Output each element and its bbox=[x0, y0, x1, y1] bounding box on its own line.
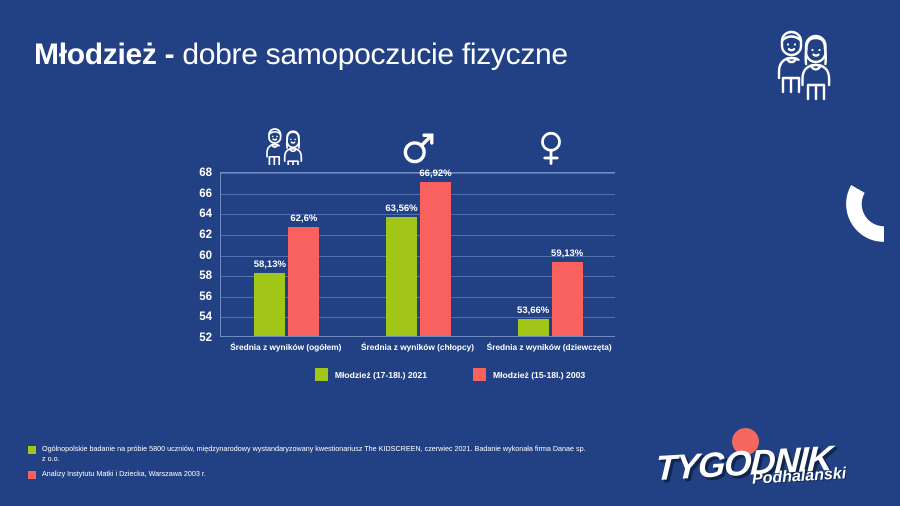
bar-value-label: 62,6% bbox=[290, 213, 317, 224]
bar[interactable]: 63,56% bbox=[386, 217, 417, 336]
bar-value-label: 63,56% bbox=[385, 203, 417, 214]
bar-fill bbox=[386, 217, 417, 336]
legend-color-swatch bbox=[315, 368, 328, 381]
bar-value-label: 66,92% bbox=[419, 168, 451, 179]
page-title-light: dobre samopoczucie fizyczne bbox=[174, 38, 567, 71]
footnote-color-swatch bbox=[28, 471, 36, 479]
couple-icon bbox=[265, 125, 307, 170]
bar-fill bbox=[518, 319, 549, 336]
footnote-color-swatch bbox=[28, 446, 36, 454]
y-axis-tick-label: 54 bbox=[199, 311, 212, 323]
legend-item[interactable]: Młodzież (15-18l.) 2003 bbox=[473, 368, 585, 381]
bar[interactable]: 58,13% bbox=[254, 273, 285, 336]
legend-color-swatch bbox=[473, 368, 486, 381]
footnote-list: Ogólnopolskie badanie na próbie 5800 ucz… bbox=[28, 444, 588, 483]
y-axis-tick-label: 52 bbox=[199, 332, 212, 344]
boy-and-girl-icon bbox=[770, 20, 856, 106]
chart-legend: Młodzież (17-18l.) 2021Młodzież (15-18l.… bbox=[0, 368, 900, 381]
footnote-text: Ogólnopolskie badanie na próbie 5800 ucz… bbox=[42, 444, 588, 465]
gridline bbox=[221, 214, 615, 215]
x-axis-labels: Średnia z wyników (ogółem)Średnia z wyni… bbox=[220, 342, 615, 360]
bar[interactable]: 66,92% bbox=[420, 182, 451, 336]
bar-fill bbox=[254, 273, 285, 336]
page-title-bold: Młodzież - bbox=[34, 38, 174, 71]
bar[interactable]: 59,13% bbox=[552, 262, 583, 336]
x-axis-label: Średnia z wyników (dziewczęta) bbox=[487, 342, 612, 352]
gridline bbox=[221, 235, 615, 236]
chart-plot-area: 525456586062646668 58,13%62,6%63,56%66,9… bbox=[220, 172, 615, 337]
bar-chart: 525456586062646668 58,13%62,6%63,56%66,9… bbox=[0, 120, 900, 410]
page-title: Młodzież - dobre samopoczucie fizyczne bbox=[34, 36, 568, 74]
bar-fill bbox=[552, 262, 583, 336]
y-axis-tick-label: 64 bbox=[199, 208, 212, 220]
slide-canvas: Młodzież - dobre samopoczucie fizyczne bbox=[0, 0, 900, 506]
bar-value-label: 58,13% bbox=[254, 259, 286, 270]
y-axis-tick-label: 58 bbox=[199, 270, 212, 282]
gridline bbox=[221, 173, 615, 174]
bar[interactable]: 62,6% bbox=[288, 227, 319, 336]
bar-value-label: 53,66% bbox=[517, 305, 549, 316]
x-axis-label: Średnia z wyników (chłopcy) bbox=[361, 342, 474, 352]
y-axis-tick-label: 56 bbox=[199, 291, 212, 303]
bar-value-label: 59,13% bbox=[551, 248, 583, 259]
y-axis-tick-label: 68 bbox=[199, 167, 212, 179]
bar[interactable]: 53,66% bbox=[518, 319, 549, 336]
y-axis-tick-label: 66 bbox=[199, 188, 212, 200]
legend-label: Młodzież (15-18l.) 2003 bbox=[493, 370, 585, 380]
bar-fill bbox=[288, 227, 319, 336]
y-axis-tick-label: 60 bbox=[199, 250, 212, 262]
footnote-row: Ogólnopolskie badanie na próbie 5800 ucz… bbox=[28, 444, 588, 465]
female-symbol-icon bbox=[536, 131, 567, 170]
footnote-row: Analizy Instytutu Matki i Dziecka, Warsz… bbox=[28, 469, 588, 479]
gridline bbox=[221, 194, 615, 195]
y-axis-tick-label: 62 bbox=[199, 229, 212, 241]
legend-item[interactable]: Młodzież (17-18l.) 2021 bbox=[315, 368, 427, 381]
category-icon-row bbox=[220, 122, 615, 170]
male-symbol-icon bbox=[402, 131, 436, 170]
bar-fill bbox=[420, 182, 451, 336]
tygodnik-podhalanski-logo: TYGODNIK Podhalanski bbox=[634, 422, 884, 494]
x-axis-label: Średnia z wyników (ogółem) bbox=[230, 342, 341, 352]
legend-label: Młodzież (17-18l.) 2021 bbox=[335, 370, 427, 380]
footnote-text: Analizy Instytutu Matki i Dziecka, Warsz… bbox=[42, 469, 206, 479]
